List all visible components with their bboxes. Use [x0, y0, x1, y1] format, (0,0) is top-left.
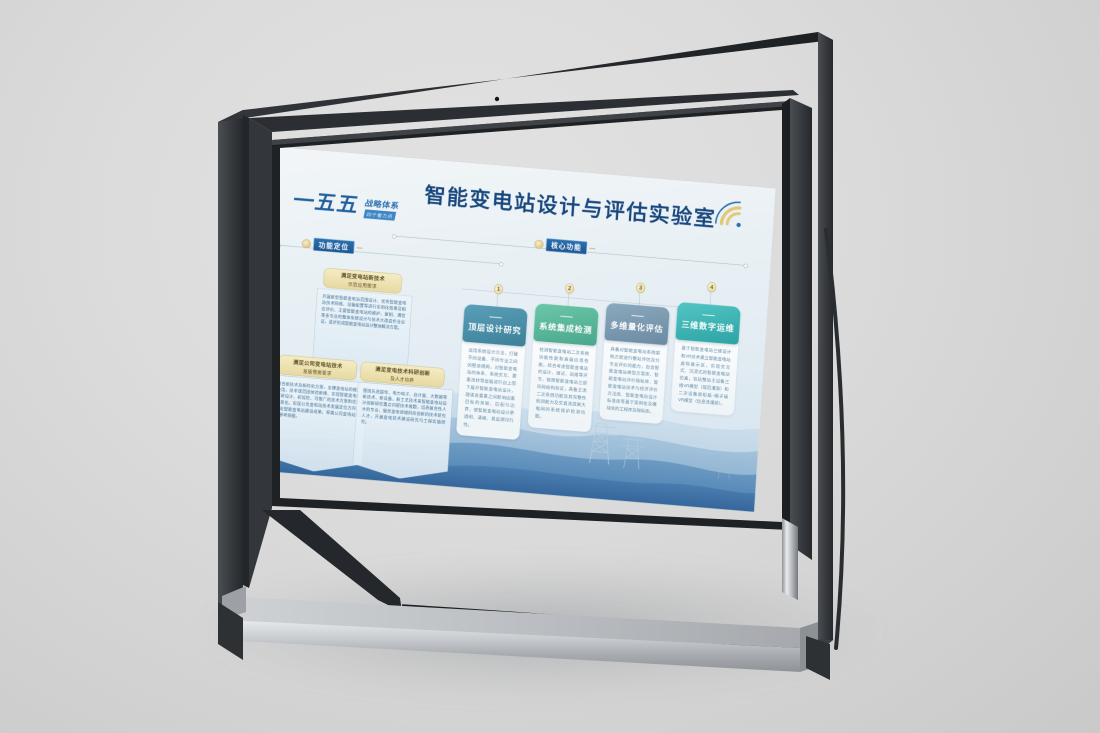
badge-tick — [357, 247, 363, 248]
core-card-2[interactable]: 2 系统集成检测 检测智能变电站二次系统功能性能和高级应用性能，综合考虑智能变电… — [528, 303, 599, 432]
card-divider — [631, 315, 643, 317]
card-stem — [497, 293, 498, 306]
card-header: 系统集成检测 — [533, 303, 598, 346]
card-divider — [702, 314, 714, 316]
card-header: 多维量化评估 — [604, 303, 669, 346]
badge-function-position: 功能定位 — [301, 237, 362, 255]
badge-core-functions: 核心功能 — [534, 237, 595, 255]
signal-arc-icon — [705, 189, 751, 235]
card-stem — [710, 291, 711, 304]
card-number: 1 — [494, 284, 504, 295]
card-title: 三维数字运维 — [681, 318, 735, 334]
core-card-4[interactable]: 4 三维数字运维 基于智能变电站三维设计和VR技术建立智能变电站虚拟展示区，实现… — [671, 302, 741, 416]
page-title: 智能变电站设计与评估实验室 — [424, 178, 717, 232]
card-divider — [489, 316, 501, 318]
seal-icon — [302, 239, 312, 249]
card-body: 基于智能变电站三维设计和VR技术建立智能变电站虚拟展示区，实现交互式、沉浸式的智… — [671, 335, 739, 416]
card-title: 顶层设计研究 — [468, 320, 522, 336]
badge-position-label: 功能定位 — [313, 238, 355, 255]
card-body: 具备对智能变电站系统架构方案进行整站评估及分专业评价的能力，包含智能变电站典型方… — [599, 335, 668, 424]
badge-tick — [589, 248, 595, 249]
card-number: 3 — [636, 282, 646, 293]
card-header: 顶层设计研究 — [462, 304, 527, 347]
card-body: 适用系统设计方法，打破不同设备、不同专业之间的壁垒隔阂，对智能变电站的体系、系统… — [456, 337, 525, 440]
badge-core-label: 核心功能 — [545, 238, 587, 255]
panel-host: 一五五 战略体系 四个着力点 智能变电站设计与评估实验室 — [0, 0, 1100, 733]
poster-artwork: 一五五 战略体系 四个着力点 智能变电站设计与评估实验室 — [258, 147, 776, 512]
card-body: 检测智能变电站二次系统功能性能和高级应用性能，综合考虑智能变电站的设计、调试、运… — [528, 336, 597, 432]
card-title: 系统集成检测 — [539, 319, 593, 335]
card-stem — [568, 293, 569, 306]
logo: 一五五 战略体系 四个着力点 — [292, 190, 413, 229]
card-header: 三维数字运维 — [675, 302, 740, 345]
logo-side-text: 战略体系 四个着力点 — [364, 197, 400, 221]
card-number: 4 — [707, 282, 717, 293]
core-card-1[interactable]: 1 顶层设计研究 适用系统设计方法，打破不同设备、不同专业之间的壁垒隔阂，对智能… — [456, 304, 528, 440]
left-block-body-3: 围绕先进超导、电力电子、自计量、大数据等新技术、新设备、新工艺技术来智能变电站设… — [352, 382, 454, 483]
scene-root: 一五五 战略体系 四个着力点 智能变电站设计与评估实验室 — [0, 0, 1100, 733]
logo-subline: 四个着力点 — [363, 209, 396, 220]
card-title: 多维量化评估 — [610, 318, 664, 334]
card-divider — [560, 316, 572, 318]
seal-icon — [534, 239, 544, 249]
card-number: 2 — [565, 283, 575, 294]
left-block-body-2: 结合新技术及新的化方案，支撑变电站的推广应用，技术规范团体验新建、实现智能变电站… — [266, 375, 368, 476]
core-card-3[interactable]: 3 多维量化评估 具备对智能变电站系统架构方案进行整站评估及分专业评价的能力，包… — [599, 303, 670, 424]
